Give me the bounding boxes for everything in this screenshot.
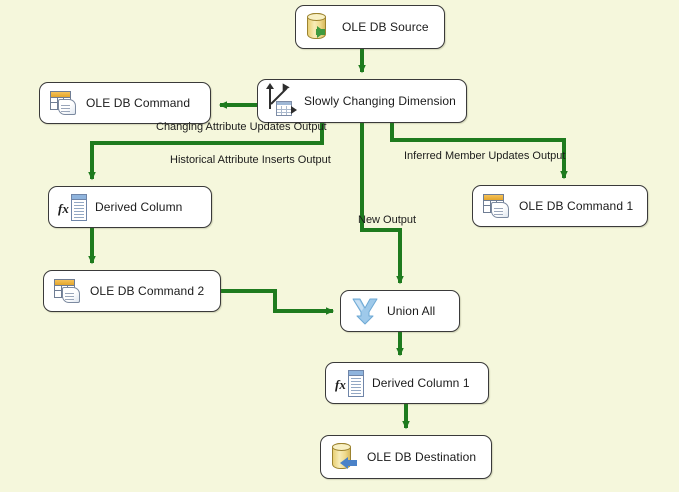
node-ole-db-source[interactable]: OLE DB Source (295, 5, 445, 49)
node-slowly-changing-dimension[interactable]: Slowly Changing Dimension (257, 79, 467, 123)
database-cylinder-green-arrow-icon (305, 12, 335, 42)
ole-db-command-icon (53, 276, 83, 306)
connector-ole-db-command-2-to-union-all (221, 291, 333, 311)
node-derived-column-1[interactable]: fx Derived Column 1 (325, 362, 489, 404)
node-label: Slowly Changing Dimension (304, 94, 456, 108)
node-ole-db-command-2[interactable]: OLE DB Command 2 (43, 270, 221, 312)
connector-scd-to-union-all (362, 123, 400, 283)
node-union-all[interactable]: Union All (340, 290, 460, 332)
node-label: OLE DB Destination (367, 450, 476, 464)
union-all-merge-icon (350, 296, 380, 326)
node-label: OLE DB Command 1 (519, 199, 633, 213)
ole-db-command-icon (482, 191, 512, 221)
derived-column-fx-icon: fx (335, 368, 365, 398)
data-flow-canvas[interactable]: OLE DB Source Slowly Changing Dimension (0, 0, 679, 492)
edge-label-historical-attribute-inserts-output: Historical Attribute Inserts Output (170, 154, 331, 166)
node-label: Union All (387, 304, 435, 318)
node-ole-db-command[interactable]: OLE DB Command (39, 82, 211, 124)
node-derived-column[interactable]: fx Derived Column (48, 186, 212, 228)
derived-column-fx-icon: fx (58, 192, 88, 222)
node-label: OLE DB Source (342, 20, 429, 34)
node-label: Derived Column 1 (372, 376, 470, 390)
ole-db-command-icon (49, 88, 79, 118)
node-label: OLE DB Command 2 (90, 284, 204, 298)
node-ole-db-command-1[interactable]: OLE DB Command 1 (472, 185, 648, 227)
node-label: OLE DB Command (86, 96, 190, 110)
edge-label-new-output: New Output (358, 214, 416, 226)
edge-label-changing-attribute-updates-output: Changing Attribute Updates Output (156, 121, 327, 133)
node-ole-db-destination[interactable]: OLE DB Destination (320, 435, 492, 479)
edge-label-inferred-member-updates-output: Inferred Member Updates Output (404, 150, 565, 162)
connector-layer (0, 0, 679, 492)
database-cylinder-blue-arrow-icon (330, 442, 360, 472)
slowly-changing-dimension-icon (267, 86, 297, 116)
node-label: Derived Column (95, 200, 182, 214)
